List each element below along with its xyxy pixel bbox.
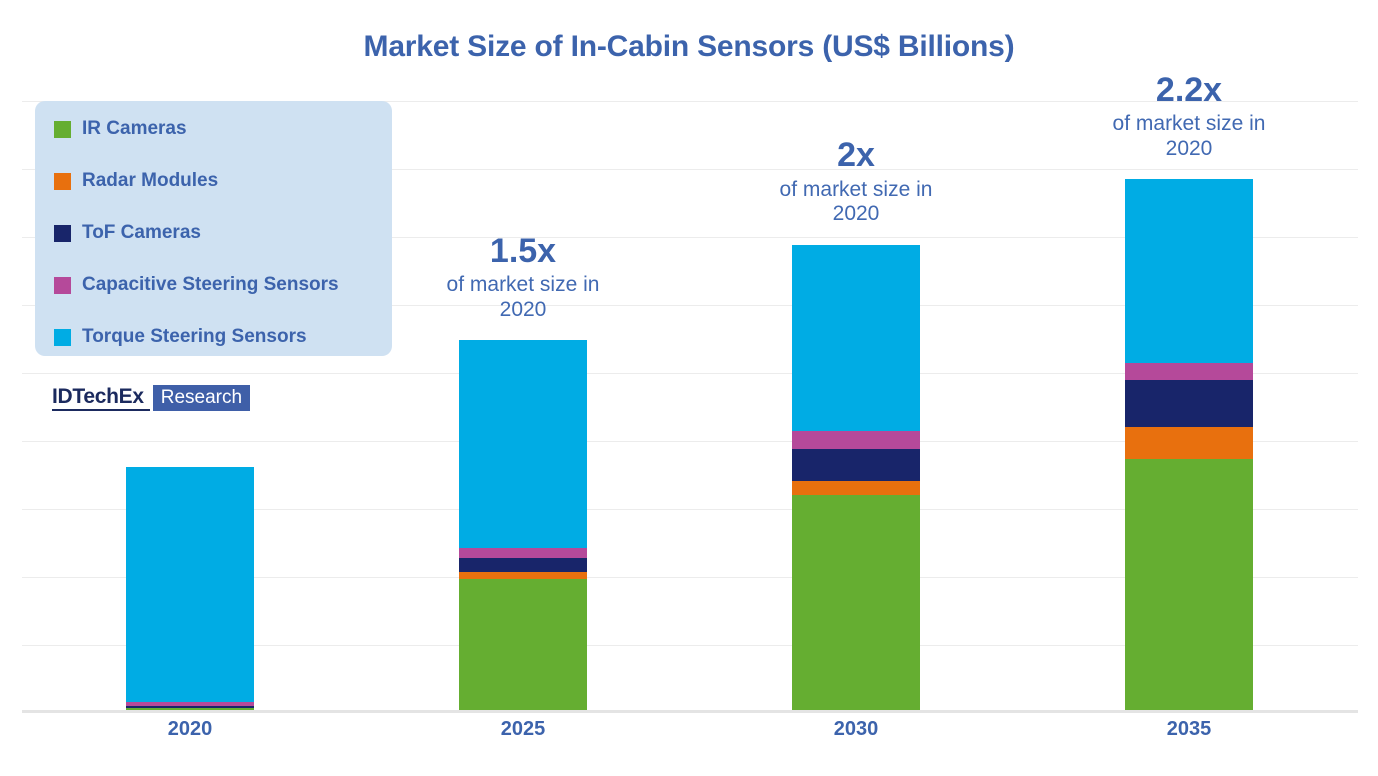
bar-segment[interactable] [1125,427,1253,458]
bar-segment[interactable] [459,572,587,579]
legend-item-label: Torque Steering Sensors [82,326,307,348]
x-axis-label-2020: 2020 [90,718,290,741]
legend-swatch-icon [54,277,71,294]
legend-item-label: Radar Modules [82,170,218,192]
legend-item[interactable]: Radar Modules [54,170,218,192]
chart-container: Market Size of In-Cabin Sensors (US$ Bil… [0,0,1378,776]
bar-group [459,340,587,710]
legend-item[interactable]: ToF Cameras [54,222,201,244]
legend-swatch-icon [54,121,71,138]
annotation-caption-line1: of market size in [726,178,986,203]
legend-item-label: IR Cameras [82,118,187,140]
annotation-caption-line2: 2020 [393,298,653,323]
logo-brand-text: IDTechEx [52,385,150,411]
legend-swatch-icon [54,173,71,190]
bar-segment[interactable] [459,558,587,572]
bar-group [126,467,254,710]
legend-swatch-icon [54,329,71,346]
bar-segment[interactable] [792,431,920,449]
idtechex-logo: IDTechEx Research [52,385,250,411]
bar-segment[interactable] [459,340,587,548]
x-axis-line [22,710,1358,713]
legend-swatch-icon [54,225,71,242]
annotation-2030: 2xof market size in2020 [726,135,986,227]
x-axis-label-2025: 2025 [423,718,623,741]
annotation-caption-line2: 2020 [726,202,986,227]
x-axis-label-2030: 2030 [756,718,956,741]
bar-segment[interactable] [1125,380,1253,427]
legend-item[interactable]: IR Cameras [54,118,187,140]
stacked-bar[interactable] [459,340,587,710]
annotation-caption-line2: 2020 [1059,137,1319,162]
bar-segment[interactable] [792,449,920,481]
annotation-multiple: 2.2x [1059,70,1319,110]
chart-title: Market Size of In-Cabin Sensors (US$ Bil… [0,30,1378,64]
bar-segment[interactable] [792,245,920,432]
bar-segment[interactable] [126,708,254,710]
annotation-multiple: 1.5x [393,231,653,271]
annotation-2035: 2.2xof market size in2020 [1059,70,1319,162]
bar-segment[interactable] [1125,363,1253,380]
legend-item-label: ToF Cameras [82,222,201,244]
bar-segment[interactable] [459,548,587,558]
bar-segment[interactable] [459,579,587,710]
stacked-bar[interactable] [126,467,254,710]
legend: IR CamerasRadar ModulesToF CamerasCapaci… [35,101,392,356]
bar-segment[interactable] [1125,459,1253,710]
bar-group [792,245,920,711]
annotation-multiple: 2x [726,135,986,175]
annotation-2025: 1.5xof market size in2020 [393,231,653,323]
annotation-caption-line1: of market size in [393,273,653,298]
legend-item[interactable]: Torque Steering Sensors [54,326,307,348]
bar-segment[interactable] [126,467,254,702]
legend-item[interactable]: Capacitive Steering Sensors [54,274,339,296]
bar-segment[interactable] [792,495,920,710]
stacked-bar[interactable] [1125,179,1253,710]
bar-group [1125,179,1253,710]
x-axis-label-2035: 2035 [1089,718,1289,741]
stacked-bar[interactable] [792,245,920,711]
logo-product-badge: Research [153,385,250,411]
annotation-caption-line1: of market size in [1059,112,1319,137]
bar-segment[interactable] [1125,179,1253,363]
legend-item-label: Capacitive Steering Sensors [82,274,339,296]
bar-segment[interactable] [792,481,920,495]
